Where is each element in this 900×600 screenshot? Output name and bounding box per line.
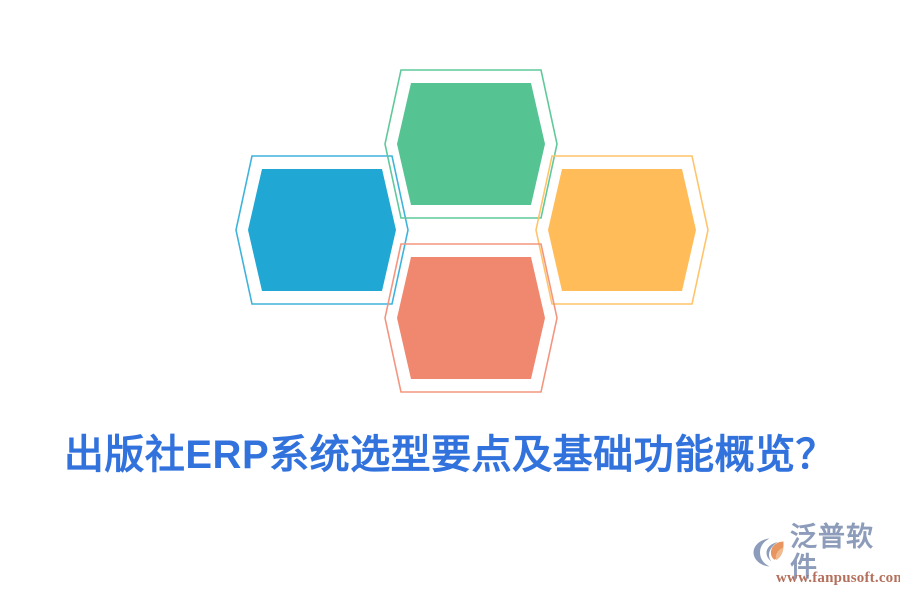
page-title: 出版社ERP系统选型要点及基础功能概览？ xyxy=(0,430,900,480)
green-hexagon-fill xyxy=(397,83,545,205)
orange-hexagon-fill xyxy=(548,169,696,291)
logo-top-row: 泛普软件 xyxy=(752,534,892,570)
green-hexagon xyxy=(385,70,557,218)
logo-website-url: www.fanpusoft.com xyxy=(776,569,900,587)
blue-hexagon-fill xyxy=(248,169,396,291)
salmon-hexagon-fill xyxy=(397,257,545,379)
fanpu-crescent-logo-icon xyxy=(752,536,788,568)
blue-hexagon xyxy=(236,156,408,304)
banner-root: 出版社ERP系统选型要点及基础功能概览？ 泛普软件 www.fanpusoft.… xyxy=(0,0,900,600)
hexagon-cluster xyxy=(0,0,900,420)
salmon-hexagon xyxy=(385,244,557,392)
orange-hexagon xyxy=(536,156,708,304)
brand-logo[interactable]: 泛普软件 www.fanpusoft.com xyxy=(752,534,892,592)
